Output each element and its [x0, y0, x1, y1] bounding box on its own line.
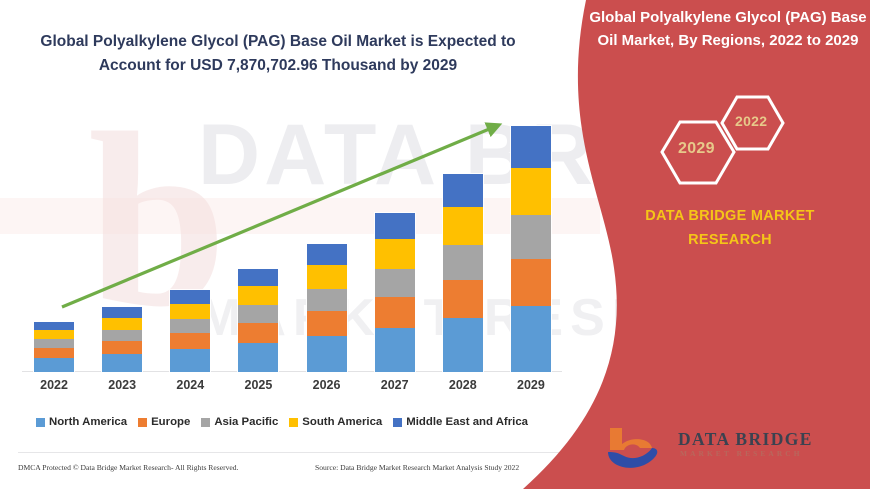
- x-axis-label-2026: 2026: [297, 378, 357, 392]
- legend-swatch-icon: [289, 418, 298, 427]
- legend-swatch-icon: [201, 418, 210, 427]
- chart-legend: North AmericaEuropeAsia PacificSouth Ame…: [36, 416, 556, 428]
- panel-title: Global Polyalkylene Glycol (PAG) Base Oi…: [586, 6, 870, 52]
- infographic-root: b DATA BRIDGE MARKET RESEARCH Global Pol…: [0, 0, 870, 489]
- footer-source: Source: Data Bridge Market Research Mark…: [315, 463, 519, 472]
- x-axis-label-2024: 2024: [160, 378, 220, 392]
- x-axis-label-2029: 2029: [501, 378, 561, 392]
- legend-label: North America: [49, 416, 127, 428]
- brand-line-1: DATA BRIDGE MARKET: [645, 208, 814, 224]
- logo-name: DATA BRIDGE: [678, 429, 813, 450]
- brand-line-2: RESEARCH: [688, 232, 772, 248]
- hexagon-group: 2029 2022: [580, 90, 870, 205]
- legend-label: Asia Pacific: [214, 416, 278, 428]
- legend-label: South America: [302, 416, 382, 428]
- legend-swatch-icon: [138, 418, 147, 427]
- hexagon-label-2029: 2029: [678, 140, 715, 158]
- legend-swatch-icon: [36, 418, 45, 427]
- legend-item-south-america[interactable]: South America: [289, 416, 382, 428]
- footer-copyright: DMCA Protected © Data Bridge Market Rese…: [18, 463, 238, 472]
- legend-label: Middle East and Africa: [406, 416, 528, 428]
- legend-item-middle-east-and-africa[interactable]: Middle East and Africa: [393, 416, 528, 428]
- x-axis-label-2025: 2025: [228, 378, 288, 392]
- x-axis-label-2027: 2027: [365, 378, 425, 392]
- legend-swatch-icon: [393, 418, 402, 427]
- logo-tagline: MARKET RESEARCH: [680, 449, 803, 458]
- growth-arrow-icon: [20, 105, 565, 380]
- legend-label: Europe: [151, 416, 190, 428]
- footer: DMCA Protected © Data Bridge Market Rese…: [0, 452, 600, 489]
- right-panel-content: Global Polyalkylene Glycol (PAG) Base Oi…: [580, 0, 870, 489]
- legend-item-asia-pacific[interactable]: Asia Pacific: [201, 416, 278, 428]
- legend-item-europe[interactable]: Europe: [138, 416, 190, 428]
- footer-divider: [18, 452, 578, 453]
- footer-logo: DATA BRIDGE MARKET RESEARCH: [602, 424, 852, 476]
- x-axis-label-2022: 2022: [24, 378, 84, 392]
- chart-x-axis-labels: 20222023202420252026202720282029: [20, 378, 565, 400]
- legend-item-north-america[interactable]: North America: [36, 416, 127, 428]
- logo-mark-icon: [602, 424, 670, 474]
- hexagon-label-2022: 2022: [735, 113, 767, 129]
- x-axis-label-2023: 2023: [92, 378, 152, 392]
- brand-name: DATA BRIDGE MARKET RESEARCH: [590, 204, 870, 252]
- page-title: Global Polyalkylene Glycol (PAG) Base Oi…: [38, 30, 518, 78]
- x-axis-label-2028: 2028: [433, 378, 493, 392]
